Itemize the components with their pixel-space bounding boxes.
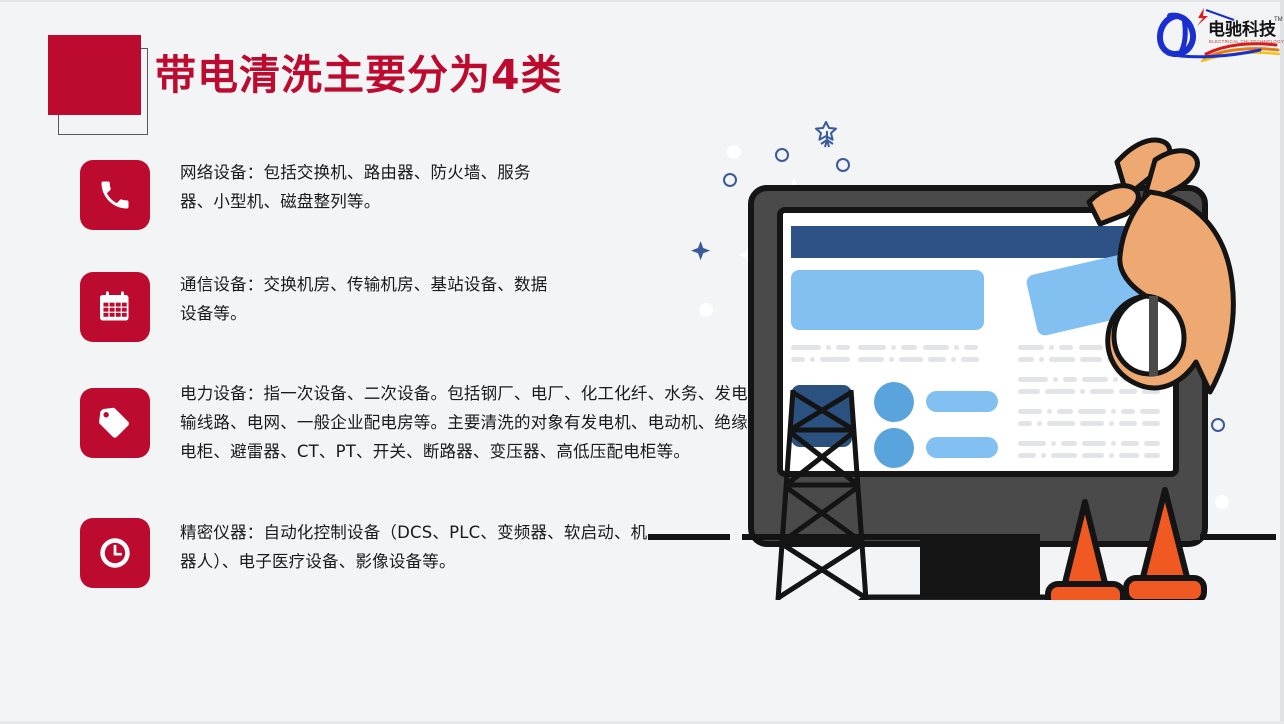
tag-icon-badge[interactable] [80,388,150,458]
tag-icon [97,405,133,441]
screen-hero-panel [791,270,984,330]
screen-pill-1 [926,391,998,412]
calendar-icon-badge[interactable] [80,272,150,342]
logo-trademark: TM [1274,17,1283,23]
slide: 电驰科技 ELECTRICAL CHI TECHNOLOGY TM 带电清洗主要… [0,0,1284,724]
list-item-text: 通信设备：交换机房、传输机房、基站设备、数据设备等。 [180,270,560,328]
screen-pill-2 [926,437,998,458]
screen-header-bar [791,226,1165,258]
monitor-hand-illustration [630,100,1284,600]
logo-cn-text: 电驰科技 [1208,19,1277,40]
list-item-text: 网络设备：包括交换机、路由器、防火墙、服务器、小型机、磁盘整列等。 [180,158,560,216]
monitor-neck [920,540,1040,600]
clock-icon [97,535,133,571]
phone-icon [97,177,133,213]
list-item-text: 精密仪器：自动化控制设备（DCS、PLC、变频器、软启动、机器人）、电子医疗设备… [180,518,660,576]
screen-avatar-2 [874,428,914,468]
screen-avatar-1 [874,382,914,422]
clock-icon-badge[interactable] [80,518,150,588]
company-logo: 电驰科技 ELECTRICAL CHI TECHNOLOGY TM [1148,4,1284,64]
phone-icon-badge[interactable] [80,160,150,230]
calendar-icon [97,289,133,325]
